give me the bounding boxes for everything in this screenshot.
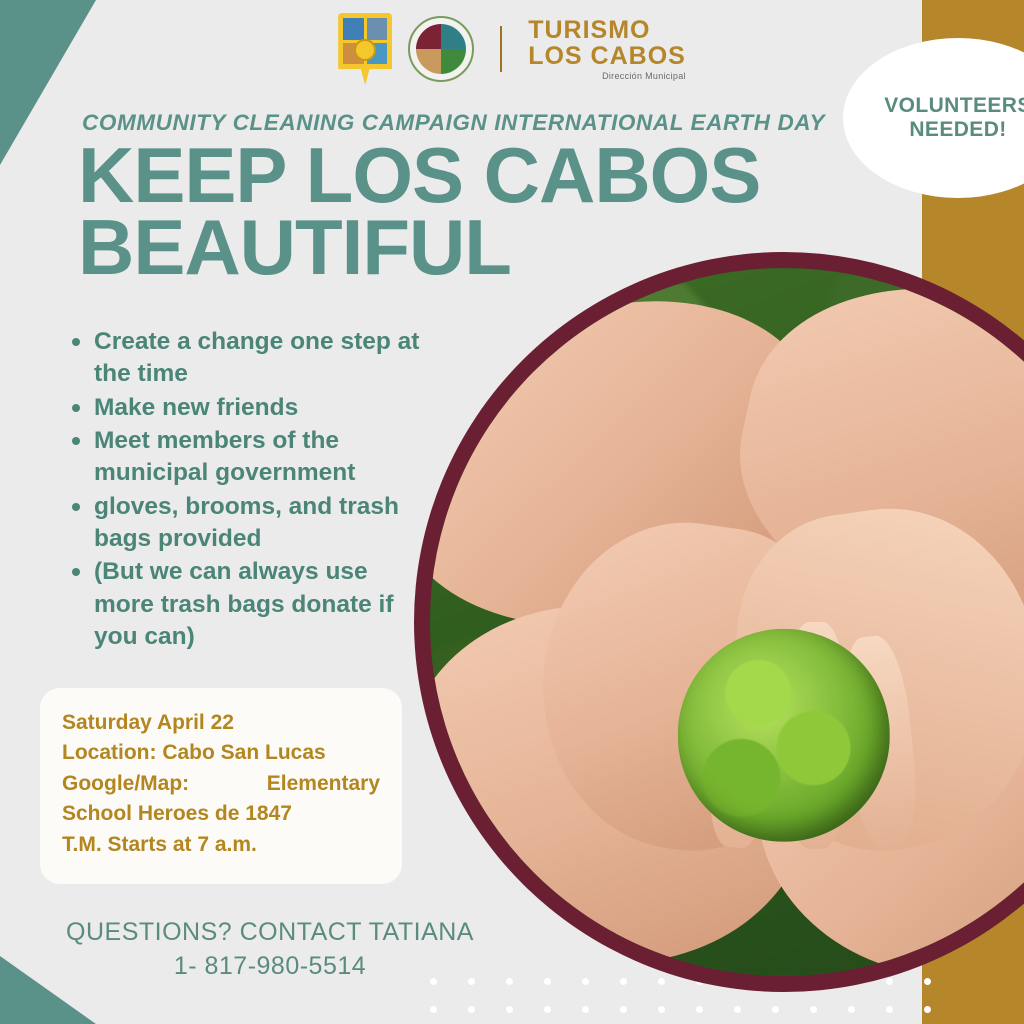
wordmark-line-1: TURISMO [528, 18, 686, 43]
contact-phone[interactable]: 1- 817-980-5514 [60, 950, 480, 984]
logo-divider [500, 26, 502, 72]
contact-question: QUESTIONS? CONTACT TATIANA [60, 916, 480, 950]
event-details-card: Saturday April 22 Location: Cabo San Luc… [40, 688, 402, 884]
list-item: (But we can always use more trash bags d… [66, 556, 426, 653]
badge-line-1: VOLUNTEERS [884, 94, 1024, 118]
turismo-los-cabos-wordmark: TURISMO LOS CABOS Dirección Municipal [528, 18, 686, 81]
green-moss-globe [678, 629, 890, 841]
wordmark-line-2: LOS CABOS [528, 44, 686, 69]
contact-block: QUESTIONS? CONTACT TATIANA 1- 817-980-55… [60, 916, 480, 984]
hands-holding-green-globe-photo [414, 252, 1024, 992]
dot-grid-decoration [430, 978, 950, 1024]
event-start-time: T.M. Starts at 7 a.m. [62, 830, 380, 860]
wordmark-subtitle: Dirección Municipal [528, 72, 686, 81]
photo-image [430, 268, 1024, 976]
list-item: Meet members of the municipal government [66, 425, 426, 490]
event-date: Saturday April 22 [62, 708, 380, 738]
list-item: Create a change one step at the time [66, 326, 426, 391]
benefits-list: Create a change one step at the time Mak… [66, 326, 426, 654]
list-item: gloves, brooms, and trash bags provided [66, 491, 426, 556]
page-title: KEEP LOS CABOS BEAUTIFUL [78, 140, 838, 284]
municipal-seal-icon [408, 16, 474, 82]
event-map-address: Google/Map: Elementary School Heroes de … [62, 769, 380, 830]
headline-line-2: BEAUTIFUL [78, 212, 838, 284]
poster-canvas: TURISMO LOS CABOS Dirección Municipal VO… [0, 0, 1024, 1024]
los-cabos-coat-of-arms-icon [338, 13, 392, 85]
list-item: Make new friends [66, 392, 426, 424]
badge-line-2: NEEDED! [909, 118, 1006, 142]
event-location: Location: Cabo San Lucas [62, 738, 380, 768]
